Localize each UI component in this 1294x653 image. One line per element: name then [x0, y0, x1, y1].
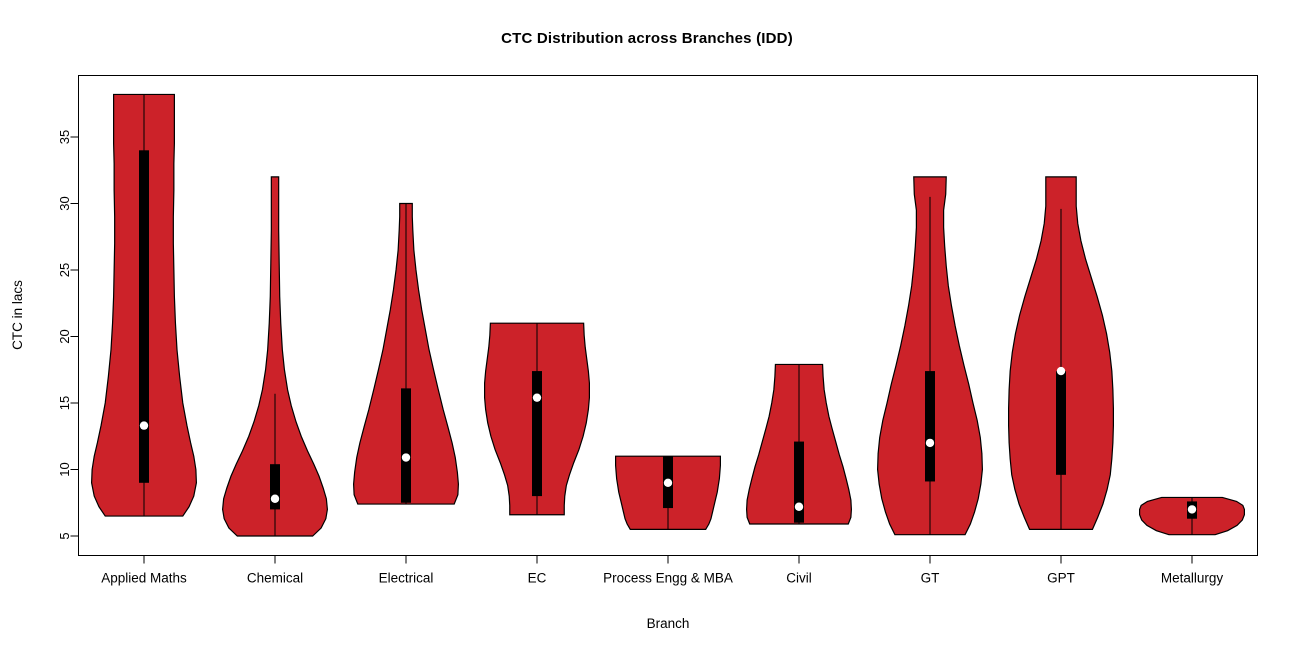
violin-1 — [92, 94, 197, 516]
x-axis: Applied MathsChemicalElectricalECProcess… — [101, 556, 1223, 586]
x-tick-label: Civil — [786, 571, 812, 586]
iqr-box — [139, 150, 149, 483]
x-tick-label: Process Engg & MBA — [603, 571, 733, 586]
violin-2 — [223, 177, 328, 536]
violin-7 — [878, 177, 983, 535]
median-point — [664, 479, 672, 487]
median-point — [533, 393, 541, 401]
median-point — [271, 495, 279, 503]
iqr-box — [401, 388, 411, 502]
chart-window: CTC Distribution across Branches (IDD) 5… — [0, 0, 1294, 653]
y-tick-label: 25 — [57, 263, 72, 277]
x-tick-label: Metallurgy — [1161, 571, 1224, 586]
x-tick-label: Chemical — [247, 571, 303, 586]
violin-group — [92, 94, 1245, 536]
violin-3 — [354, 204, 459, 505]
median-point — [1188, 505, 1196, 513]
x-tick-label: Applied Maths — [101, 571, 187, 586]
median-point — [795, 503, 803, 511]
violin-4 — [485, 323, 590, 515]
x-axis-title: Branch — [647, 616, 690, 631]
x-tick-label: GT — [921, 571, 940, 586]
median-point — [402, 453, 410, 461]
violin-8 — [1009, 177, 1114, 529]
iqr-box — [925, 371, 935, 481]
x-tick-label: Electrical — [379, 571, 434, 586]
y-tick-label: 5 — [57, 532, 72, 539]
y-tick-label: 35 — [57, 130, 72, 144]
iqr-box — [532, 371, 542, 496]
y-tick-label: 30 — [57, 196, 72, 210]
y-axis: 5101520253035 — [57, 130, 79, 540]
violin-9 — [1140, 497, 1245, 534]
y-axis-title: CTC in lacs — [10, 280, 25, 350]
y-tick-label: 20 — [57, 329, 72, 343]
median-point — [1057, 367, 1065, 375]
iqr-box — [1056, 371, 1066, 475]
x-tick-label: GPT — [1047, 571, 1075, 586]
x-tick-label: EC — [528, 571, 547, 586]
violin-plot: 5101520253035 Applied MathsChemicalElect… — [0, 0, 1294, 653]
violin-5 — [616, 456, 721, 529]
violin-6 — [747, 364, 852, 524]
y-tick-label: 15 — [57, 396, 72, 410]
median-point — [140, 421, 148, 429]
median-point — [926, 439, 934, 447]
y-tick-label: 10 — [57, 462, 72, 476]
